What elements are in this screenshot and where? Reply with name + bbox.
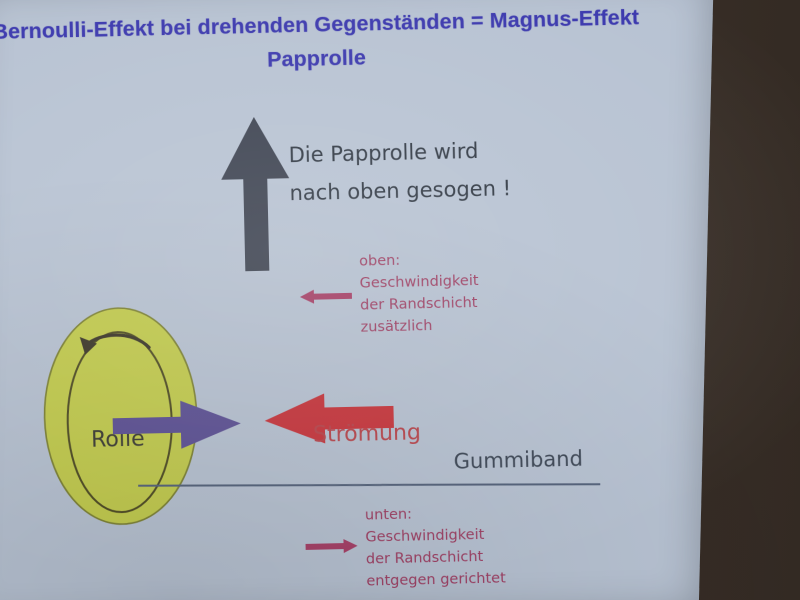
headline-text: Die Papprolle wird nach oben gesogen ! xyxy=(288,130,550,212)
note-top-line-4: zusätzlich xyxy=(360,312,550,338)
flow-label: Strömung xyxy=(313,420,421,447)
projected-slide-photo: Bernoulli-Effekt bei drehenden Gegenstän… xyxy=(0,0,800,600)
headline-line-1: Die Papprolle wird xyxy=(288,130,549,174)
note-bottom-text: unten: Geschwindigkeit der Randschicht e… xyxy=(365,500,567,593)
roll-velocity-arrow xyxy=(112,397,243,452)
slide-title: Bernoulli-Effekt bei drehenden Gegenstän… xyxy=(0,0,647,83)
headline-line-2: nach oben gesogen ! xyxy=(289,168,550,212)
note-top-text: oben: Geschwindigkeit der Randschicht zu… xyxy=(359,246,551,338)
note-bottom-line-4: entgegen gerichtet xyxy=(366,566,566,593)
slide-content: Bernoulli-Effekt bei drehenden Gegenstän… xyxy=(0,0,800,600)
note-top-left-arrow xyxy=(300,287,352,306)
note-bottom-right-arrow xyxy=(305,537,357,556)
